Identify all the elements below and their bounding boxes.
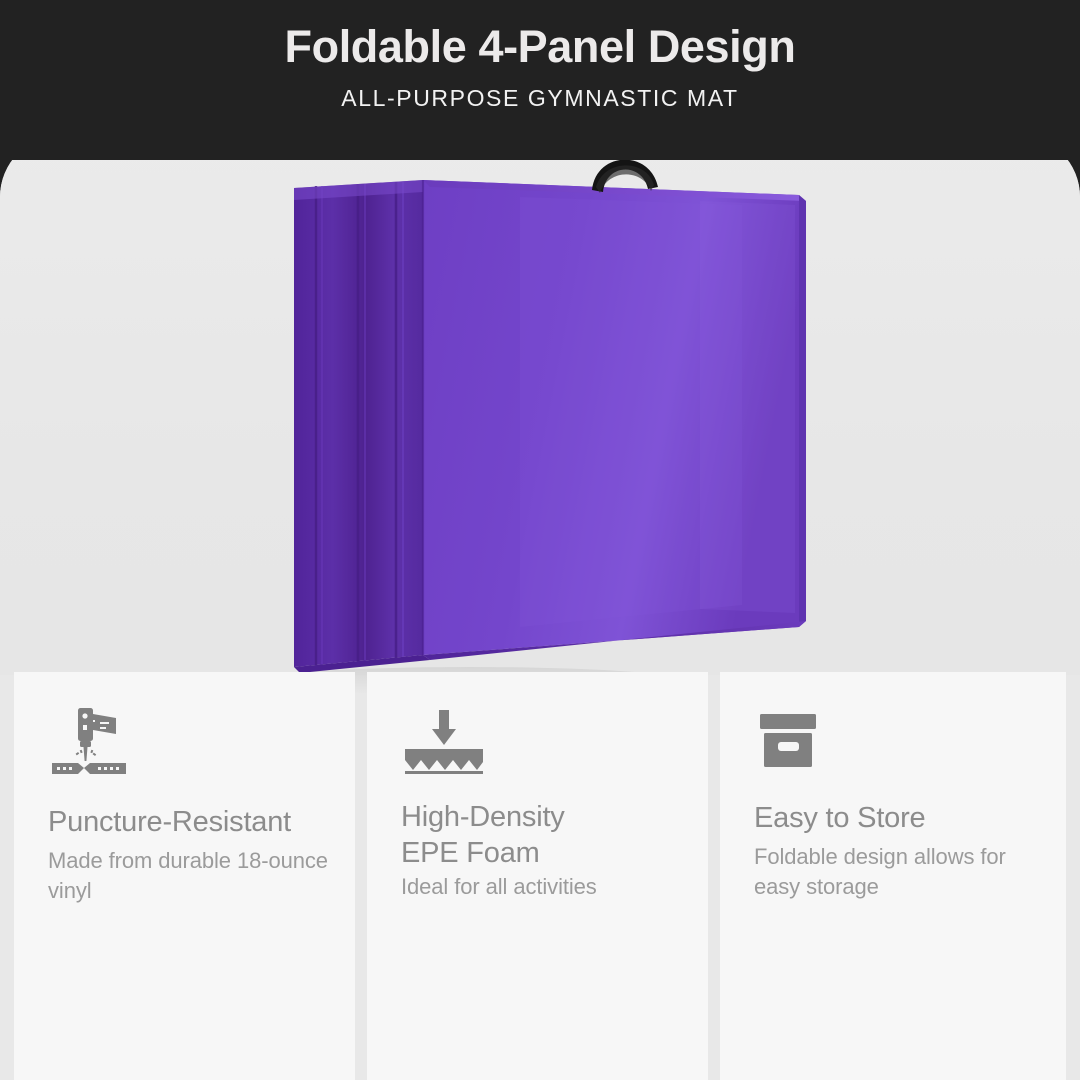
puncture-resistant-icon [48, 704, 134, 780]
storage-box-icon [754, 704, 840, 780]
feature-description: Foldable design allows for easy storage [754, 842, 1054, 902]
feature-card-high-density-foam[interactable]: High-Density EPE Foam Ideal for all acti… [367, 672, 708, 1080]
feature-card-easy-to-store[interactable]: Easy to Store Foldable design allows for… [720, 672, 1066, 1080]
feature-title: Puncture-Resistant [48, 804, 338, 840]
feature-title: Easy to Store [754, 800, 1044, 836]
feature-description: Made from durable 18-ounce vinyl [48, 846, 348, 906]
feature-title-line-2: EPE Foam [401, 837, 540, 869]
content-panel: Puncture-Resistant Made from durable 18-… [0, 135, 1080, 1080]
feature-title: High-Density EPE Foam [401, 799, 691, 871]
mat-right-edge [799, 195, 806, 627]
feature-description: Ideal for all activities [401, 872, 701, 902]
page-title: Foldable 4-Panel Design [0, 20, 1080, 74]
feature-title-line-1: High-Density [401, 801, 565, 833]
page-subtitle: ALL-PURPOSE GYMNASTIC MAT [0, 84, 1080, 112]
feature-card-puncture-resistant[interactable]: Puncture-Resistant Made from durable 18-… [14, 672, 355, 1080]
header-band: Foldable 4-Panel Design ALL-PURPOSE GYMN… [0, 0, 1080, 160]
infographic-canvas: Foldable 4-Panel Design ALL-PURPOSE GYMN… [0, 0, 1080, 1080]
foam-density-icon [401, 704, 487, 780]
mat-front-sheen-right [700, 201, 795, 613]
feature-card-strip: Puncture-Resistant Made from durable 18-… [0, 672, 1080, 1080]
